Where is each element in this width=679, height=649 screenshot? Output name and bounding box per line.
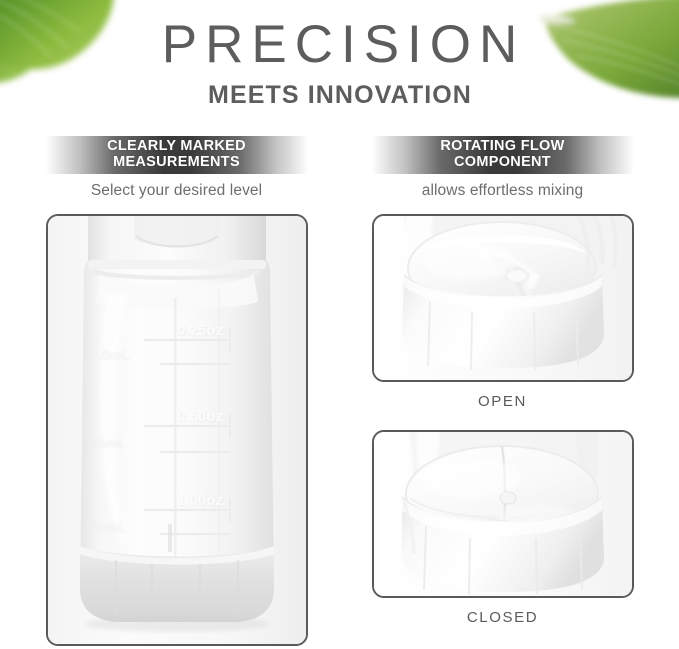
svg-text:0.25oz: 0.25oz <box>177 322 223 339</box>
bottle-cap-open-photo <box>374 216 632 380</box>
caption-closed: CLOSED <box>372 609 634 626</box>
subtitle-flow-component: allows effortless mixing <box>372 182 634 200</box>
measurement-label-7-5ml: 7.5mL <box>90 347 131 363</box>
page-header: PRECISION MEETS INNOVATION <box>0 16 679 110</box>
banner-measurements-title: CLEARLY MARKED MEASUREMENTS <box>107 139 246 170</box>
bottle-cap-closed-photo <box>374 432 632 596</box>
feature-columns: CLEARLY MARKED MEASUREMENTS Select your … <box>0 136 679 649</box>
cap-open-photo-frame <box>372 214 634 382</box>
column-flow-component: ROTATING FLOW COMPONENT allows effortles… <box>372 136 634 649</box>
svg-text:1.00oz: 1.00oz <box>177 492 223 509</box>
caption-open: OPEN <box>372 393 634 410</box>
svg-text:0.50oz: 0.50oz <box>177 408 223 425</box>
page-title: PRECISION <box>0 16 679 73</box>
banner-flow-component-title: ROTATING FLOW COMPONENT <box>440 139 564 170</box>
bottle-photo-frame: 0.25oz 0.50oz 1.00oz 0.25oz 0.50oz 1.00o… <box>46 214 308 646</box>
banner-flow-component: ROTATING FLOW COMPONENT <box>372 136 634 174</box>
measuring-bottle-photo: 0.25oz 0.50oz 1.00oz 0.25oz 0.50oz 1.00o… <box>48 216 306 644</box>
subtitle-measurements: Select your desired level <box>46 182 308 200</box>
column-measurements: CLEARLY MARKED MEASUREMENTS Select your … <box>46 136 308 649</box>
cap-closed-photo-frame <box>372 430 634 598</box>
measurement-label-30ml: 30mL <box>90 519 127 535</box>
page-subtitle: MEETS INNOVATION <box>0 81 679 110</box>
measurement-label-15ml: 15mL <box>90 435 127 451</box>
banner-measurements: CLEARLY MARKED MEASUREMENTS <box>46 136 308 174</box>
